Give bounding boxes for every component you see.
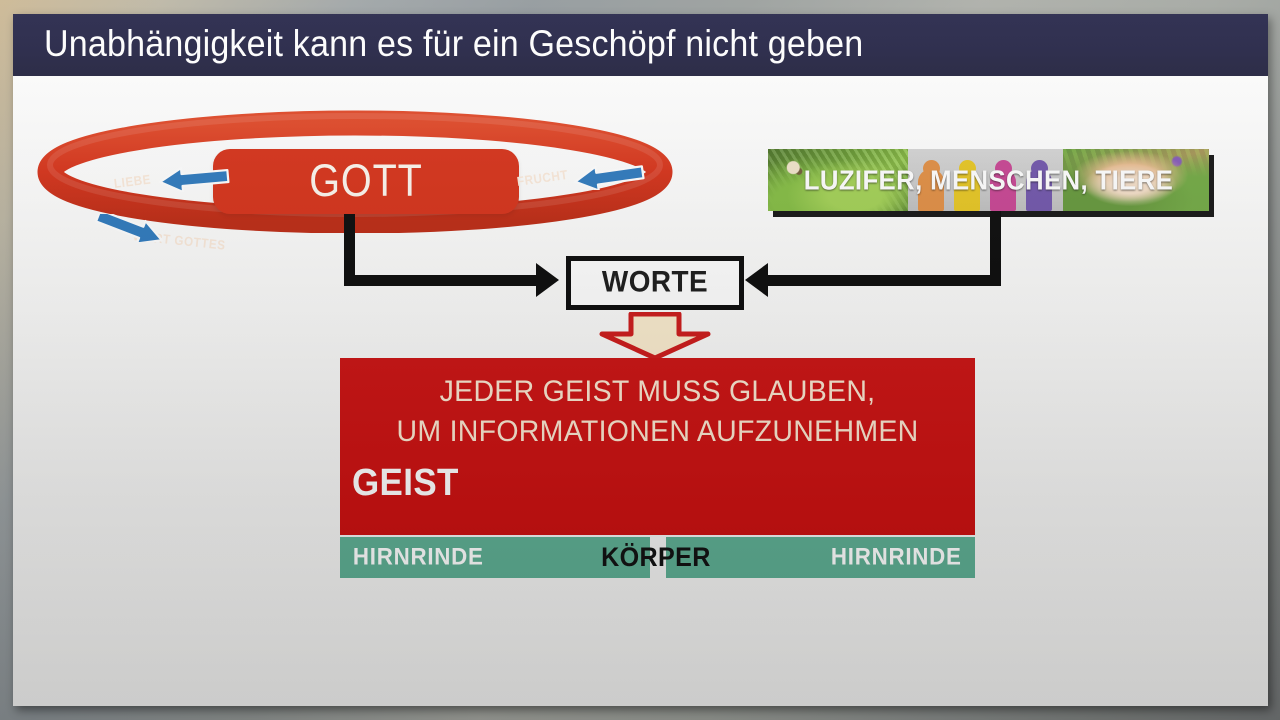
hirnrinde-right-segment: HIRNRINDE bbox=[666, 537, 975, 578]
body-bar: HIRNRINDE HIRNRINDE KÖRPER bbox=[340, 537, 975, 578]
wort-gottes-arrow-icon bbox=[92, 214, 168, 242]
slide-title: Unabhängigkeit kann es für ein Geschöpf … bbox=[44, 23, 863, 65]
connector-gott-horizontal bbox=[344, 275, 544, 286]
liebe-arrow-icon bbox=[156, 166, 232, 192]
slide-title-bar: Unabhängigkeit kann es für ein Geschöpf … bbox=[13, 14, 1268, 76]
worte-label: WORTE bbox=[577, 265, 733, 299]
frucht-arrow-icon bbox=[571, 164, 647, 190]
worte-box: WORTE bbox=[566, 256, 744, 310]
arrowhead-gott-to-worte bbox=[536, 263, 559, 297]
gott-box: GOTT bbox=[213, 149, 519, 214]
hirnrinde-left-label: HIRNRINDE bbox=[353, 543, 484, 571]
connector-banner-horizontal bbox=[768, 275, 1001, 286]
banner-label: LUZIFER, MENSCHEN, TIERE bbox=[786, 165, 1192, 197]
geist-line-2: UM INFORMATIONEN AUFZUNEHMEN bbox=[356, 415, 959, 449]
down-block-arrow-icon bbox=[598, 312, 712, 360]
luzifer-menschen-tiere-banner: LUZIFER, MENSCHEN, TIERE bbox=[768, 149, 1209, 211]
gott-label: GOTT bbox=[231, 154, 500, 206]
geist-line-1: JEDER GEIST MUSS GLAUBEN, bbox=[356, 375, 959, 409]
gott-cycle-diagram: GOTT LIEBE WORT GOTTES FRUCHT bbox=[30, 108, 680, 233]
koerper-label: KÖRPER bbox=[601, 541, 711, 572]
geist-keyword: GEIST bbox=[352, 462, 459, 505]
geist-panel: JEDER GEIST MUSS GLAUBEN, UM INFORMATION… bbox=[340, 358, 975, 535]
arrowhead-banner-to-worte bbox=[745, 263, 768, 297]
hirnrinde-right-label: HIRNRINDE bbox=[831, 543, 962, 571]
presentation-viewer: Unabhängigkeit kann es für ein Geschöpf … bbox=[0, 0, 1280, 720]
slide-canvas: GOTT LIEBE WORT GOTTES FRUCHT bbox=[13, 76, 1268, 706]
slide-surface: Unabhängigkeit kann es für ein Geschöpf … bbox=[13, 14, 1268, 706]
